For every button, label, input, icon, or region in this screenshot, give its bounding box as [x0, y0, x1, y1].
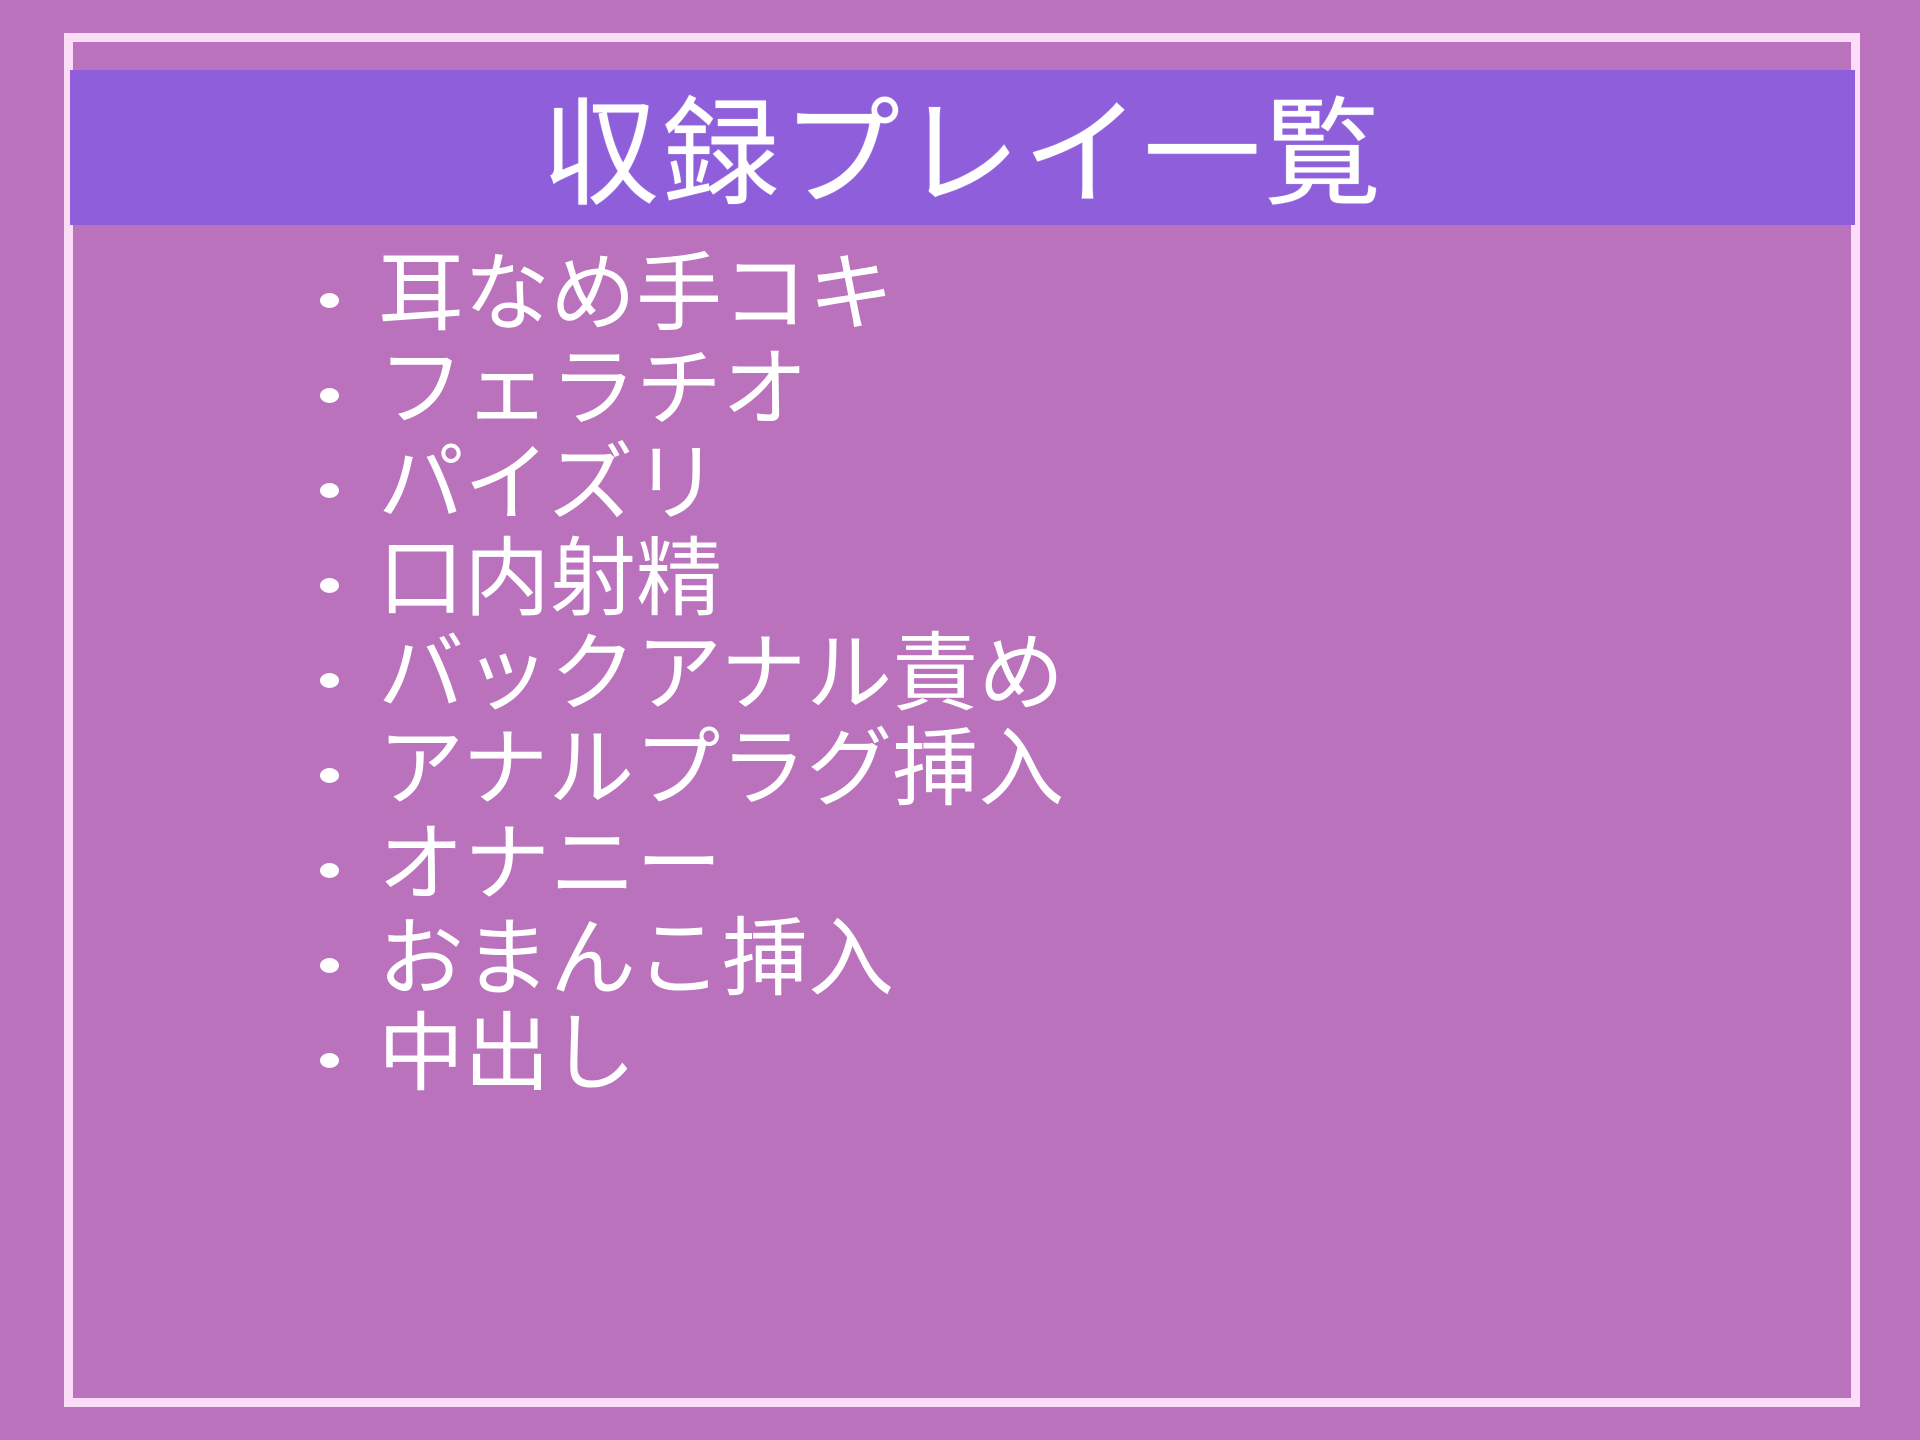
bullet-dot-icon [318, 343, 344, 438]
bullet-dot-icon [318, 913, 344, 1008]
title-banner: 収録プレイ一覧 [70, 70, 1855, 225]
list-item: オナニー [318, 818, 1798, 913]
list-item-label: オナニー [344, 821, 1798, 907]
page-title: 収録プレイ一覧 [541, 95, 1384, 213]
bullet-dot-icon [318, 628, 344, 723]
list-item-label: パイズリ [344, 441, 1798, 527]
list-item: アナルプラグ挿入 [318, 723, 1798, 818]
list-item-label: アナルプラグ挿入 [344, 726, 1798, 812]
list-item-label: 耳なめ手コキ [344, 251, 1798, 337]
list-item-label: バックアナル責め [344, 631, 1798, 717]
list-item-label: 口内射精 [344, 536, 1798, 622]
bullet-dot-icon [318, 248, 344, 343]
list-item: おまんこ挿入 [318, 913, 1798, 1008]
list-item-label: 中出し [344, 1011, 1798, 1097]
bullet-dot-icon [318, 533, 344, 628]
bullet-dot-icon [318, 818, 344, 913]
list-item: 耳なめ手コキ [318, 248, 1798, 343]
bullet-dot-icon [318, 723, 344, 818]
list-item: 口内射精 [318, 533, 1798, 628]
list-item: 中出し [318, 1008, 1798, 1103]
play-list: 耳なめ手コキ フェラチオ パイズリ 口内射精 バックアナル責め アナルプラグ挿入… [318, 248, 1798, 1103]
list-item-label: おまんこ挿入 [344, 916, 1798, 1002]
list-item: パイズリ [318, 438, 1798, 533]
list-item-label: フェラチオ [344, 346, 1798, 432]
bullet-dot-icon [318, 438, 344, 533]
slide-canvas: 収録プレイ一覧 耳なめ手コキ フェラチオ パイズリ 口内射精 バックアナル責め … [0, 0, 1920, 1440]
list-item: フェラチオ [318, 343, 1798, 438]
list-item: バックアナル責め [318, 628, 1798, 723]
bullet-dot-icon [318, 1008, 344, 1103]
